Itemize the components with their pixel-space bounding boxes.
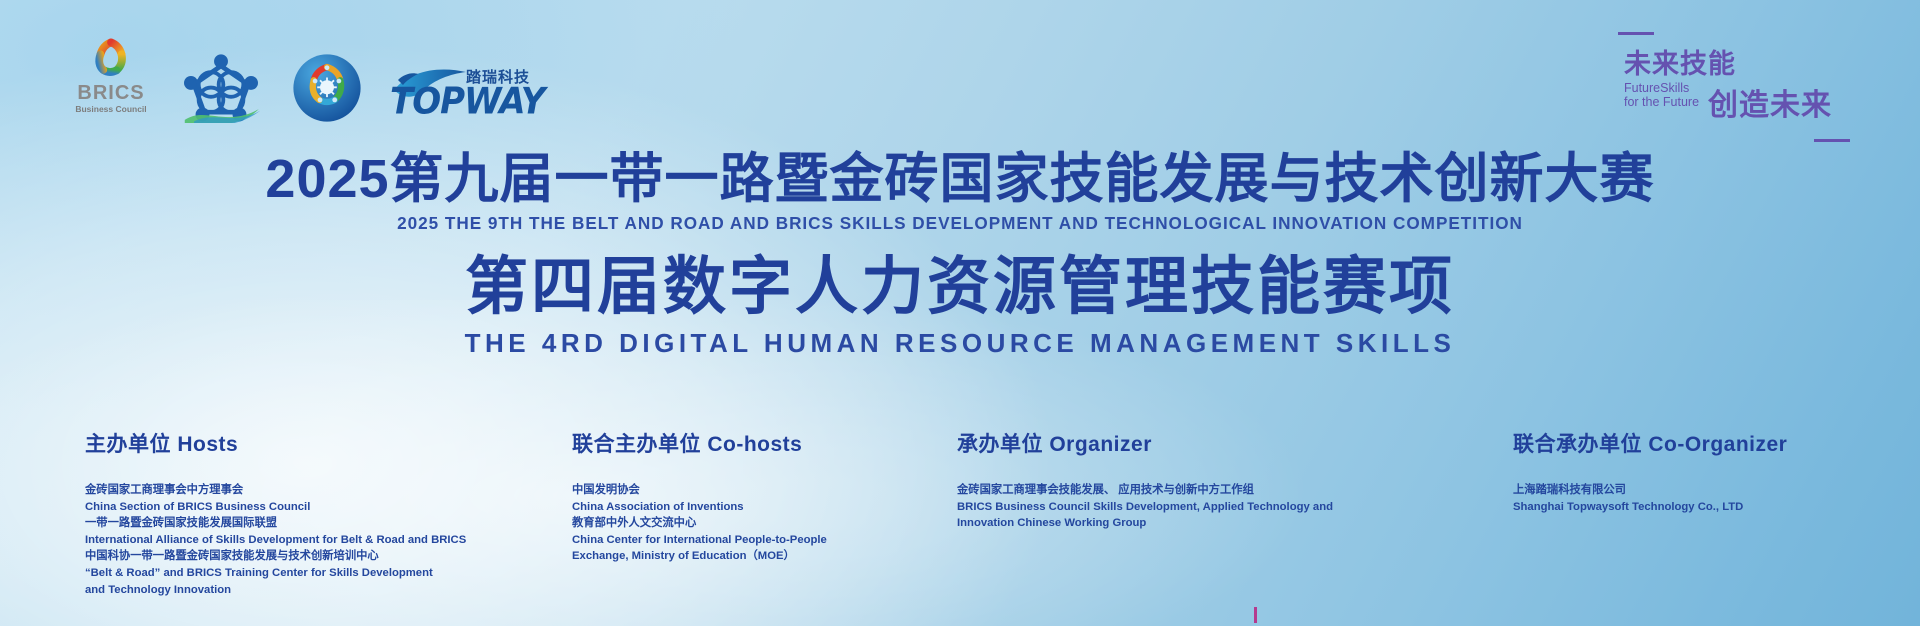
organizer-lines: 金砖国家工商理事会中方理事会 China Section of BRICS Bu… bbox=[85, 482, 466, 598]
organizer-line: 金砖国家工商理事会技能发展、 应用技术与创新中方工作组 bbox=[957, 482, 1333, 499]
dash-bottom-decoration bbox=[1814, 139, 1850, 142]
organizer-column-cohosts: 联合主办单位 Co-hosts 中国发明协会 China Association… bbox=[572, 428, 827, 565]
subtitle-cn: 第四届数字人力资源管理技能赛项 bbox=[0, 253, 1920, 322]
organizer-heading: 联合承办单位 Co-Organizer bbox=[1513, 428, 1787, 458]
organizers-section: 主办单位 Hosts 金砖国家工商理事会中方理事会 China Section … bbox=[0, 428, 1920, 608]
organizer-column-hosts: 主办单位 Hosts 金砖国家工商理事会中方理事会 China Section … bbox=[85, 428, 466, 598]
future-skills-en-line2: for the Future bbox=[1624, 95, 1699, 109]
future-skills-cn-line1: 未来技能 bbox=[1624, 42, 1736, 81]
organizer-lines: 中国发明协会 China Association of Inventions 教… bbox=[572, 482, 827, 565]
topway-logo: 踏瑞科技 TOPWAY bbox=[390, 56, 530, 128]
skills-emblem-logo bbox=[292, 53, 362, 128]
organizer-column-coorganizer: 联合承办单位 Co-Organizer 上海踏瑞科技有限公司 Shanghai … bbox=[1513, 428, 1787, 515]
brics-subtitle: Business Council bbox=[75, 105, 146, 114]
brics-star-icon bbox=[88, 36, 134, 80]
organizer-line: BRICS Business Council Skills Developmen… bbox=[957, 499, 1333, 516]
dash-top-decoration bbox=[1618, 32, 1654, 35]
brics-business-council-logo: BRICS Business Council bbox=[72, 36, 150, 128]
organizer-heading: 联合主办单位 Co-hosts bbox=[572, 428, 827, 458]
organizer-line: “Belt & Road” and BRICS Training Center … bbox=[85, 565, 466, 582]
organizer-line: Shanghai Topwaysoft Technology Co., LTD bbox=[1513, 499, 1787, 516]
organizer-heading: 主办单位 Hosts bbox=[85, 428, 466, 458]
organizer-line: China Center for International People-to… bbox=[572, 532, 827, 549]
subtitle-en: THE 4RD DIGITAL HUMAN RESOURCE MANAGEMEN… bbox=[0, 328, 1920, 359]
organizer-line: China Association of Inventions bbox=[572, 499, 827, 516]
organizer-line: 一带一路暨金砖国家技能发展国际联盟 bbox=[85, 515, 466, 532]
organizer-lines: 金砖国家工商理事会技能发展、 应用技术与创新中方工作组 BRICS Busine… bbox=[957, 482, 1333, 532]
organizer-line: 中国科协一带一路暨金砖国家技能发展与技术创新培训中心 bbox=[85, 548, 466, 565]
topway-wordmark: TOPWAY bbox=[390, 80, 544, 123]
organizer-line: International Alliance of Skills Develop… bbox=[85, 532, 466, 549]
organizer-line: Innovation Chinese Working Group bbox=[957, 515, 1333, 532]
main-title-en: 2025 THE 9TH THE BELT AND ROAD AND BRICS… bbox=[19, 213, 1901, 234]
organizer-line: Exchange, Ministry of Education（MOE） bbox=[572, 548, 827, 565]
main-title-cn: 2025第九届一带一路暨金砖国家技能发展与技术创新大赛 bbox=[0, 150, 1920, 208]
organizer-heading: 承办单位 Organizer bbox=[957, 428, 1333, 458]
future-skills-cn-line2: 创造未来 bbox=[1708, 80, 1832, 124]
organizer-line: 教育部中外人文交流中心 bbox=[572, 515, 827, 532]
organizer-line: China Section of BRICS Business Council bbox=[85, 499, 466, 516]
future-skills-en: FutureSkills for the Future bbox=[1624, 81, 1699, 109]
sponsor-logo-strip: BRICS Business Council bbox=[72, 36, 530, 128]
bottom-marker bbox=[1254, 607, 1257, 623]
organizer-lines: 上海踏瑞科技有限公司 Shanghai Topwaysoft Technolog… bbox=[1513, 482, 1787, 515]
brics-wordmark: BRICS bbox=[77, 83, 144, 103]
subtitle-block: 第四届数字人力资源管理技能赛项 THE 4RD DIGITAL HUMAN RE… bbox=[0, 253, 1920, 359]
organizer-line: 金砖国家工商理事会中方理事会 bbox=[85, 482, 466, 499]
future-skills-en-line1: FutureSkills bbox=[1624, 81, 1689, 95]
event-banner: BRICS Business Council bbox=[0, 0, 1920, 626]
organizer-column-organizer: 承办单位 Organizer 金砖国家工商理事会技能发展、 应用技术与创新中方工… bbox=[957, 428, 1333, 532]
organizer-line: and Technology Innovation bbox=[85, 582, 466, 599]
main-title-block: 2025第九届一带一路暨金砖国家技能发展与技术创新大赛 2025 THE 9TH… bbox=[0, 150, 1920, 234]
alliance-flower-logo bbox=[178, 49, 264, 128]
organizer-line: 中国发明协会 bbox=[572, 482, 827, 499]
future-skills-slogan: 未来技能 FutureSkills for the Future 创造未来 bbox=[1610, 28, 1860, 140]
organizer-line: 上海踏瑞科技有限公司 bbox=[1513, 482, 1787, 499]
